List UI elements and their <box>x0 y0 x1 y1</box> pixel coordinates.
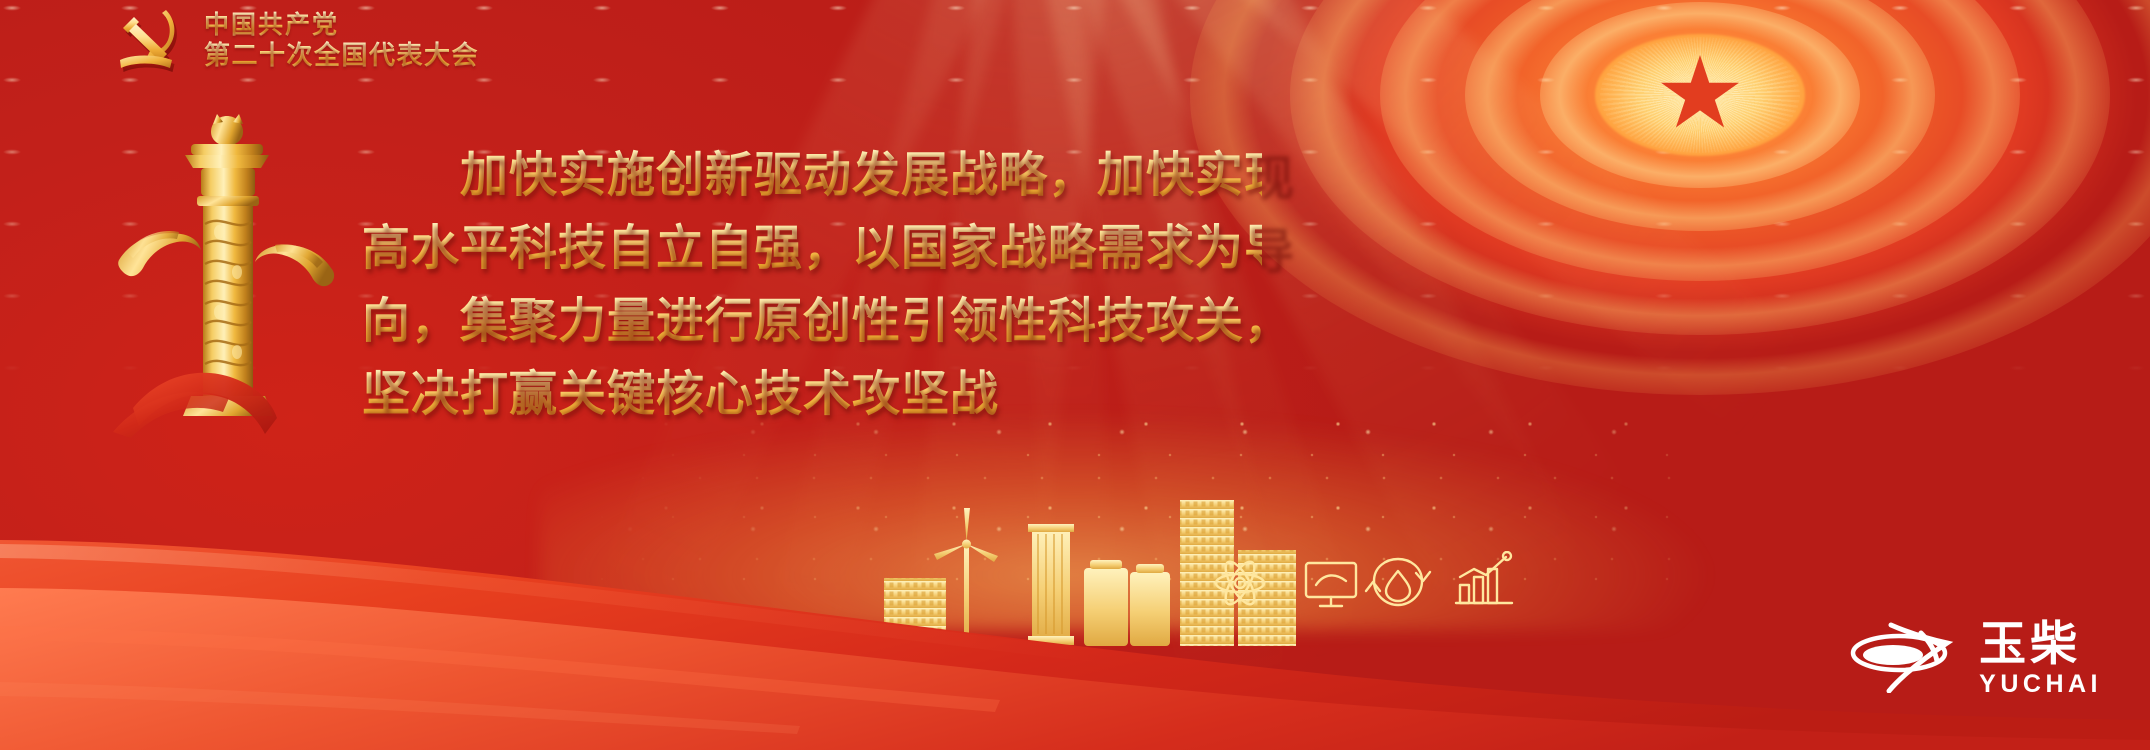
wind-turbine <box>934 508 998 644</box>
slogan-line-3: 向，集聚力量进行原创性引领性科技攻关， <box>362 286 1262 359</box>
congress-title: 中国共产党 第二十次全国代表大会 <box>204 11 479 70</box>
sunburst-rays <box>1600 37 1800 153</box>
huabiao-ornamental-pillar <box>105 108 345 438</box>
water-recycle-icon <box>1366 559 1430 605</box>
ring-core-glow <box>1595 34 1805 156</box>
red-silk-ribbon <box>0 420 2150 750</box>
colonnade-tower <box>1028 524 1074 645</box>
ring-2 <box>1465 0 1935 231</box>
gold-glow <box>540 410 1720 630</box>
yuchai-swoosh-mark-icon <box>1849 619 1961 698</box>
yuchai-name-en: YUCHAI <box>1979 672 2102 697</box>
five-pointed-star-icon <box>1661 55 1739 133</box>
congress-header: 中国共产党 第二十次全国代表大会 <box>112 4 479 78</box>
ring-1 <box>1540 2 1860 188</box>
slogan-line-4: 坚决打赢关键核心技术攻坚战 <box>362 359 1262 432</box>
congress-propaganda-banner: 中国共产党 第二十次全国代表大会 <box>0 0 2150 750</box>
atom-icon <box>1216 558 1264 609</box>
slogan-block: 加快实施创新驱动发展战略，加快实现 高水平科技自立自强，以国家战略需求为导 向，… <box>362 140 1262 432</box>
slogan-line-2: 高水平科技自立自强，以国家战略需求为导 <box>362 213 1262 286</box>
ring-4 <box>1290 0 2110 335</box>
ring-3 <box>1380 0 2020 281</box>
cpc-hammer-sickle-emblem-icon <box>112 4 190 78</box>
yuchai-wordmark: 玉柴 YUCHAI <box>1979 620 2102 697</box>
growth-chart-icon <box>1456 552 1512 603</box>
slogan-line-1: 加快实施创新驱动发展战略，加快实现 <box>362 140 1262 213</box>
ring-outer <box>1190 0 2150 395</box>
congress-title-line1: 中国共产党 <box>204 11 479 39</box>
low-rise-block <box>1238 550 1296 646</box>
gold-particles <box>560 410 1710 590</box>
monitor-icon <box>1306 563 1356 606</box>
yuchai-logo: 玉柴 YUCHAI <box>1849 619 2102 698</box>
office-building-left <box>884 578 946 644</box>
yuchai-name-cn: 玉柴 <box>1979 620 2081 667</box>
grid-skyscraper <box>1180 500 1234 646</box>
twin-towers <box>1084 560 1170 646</box>
congress-title-line2: 第二十次全国代表大会 <box>204 41 479 70</box>
tech-icon-row <box>1210 551 1520 620</box>
golden-city-skyline <box>880 500 1300 655</box>
